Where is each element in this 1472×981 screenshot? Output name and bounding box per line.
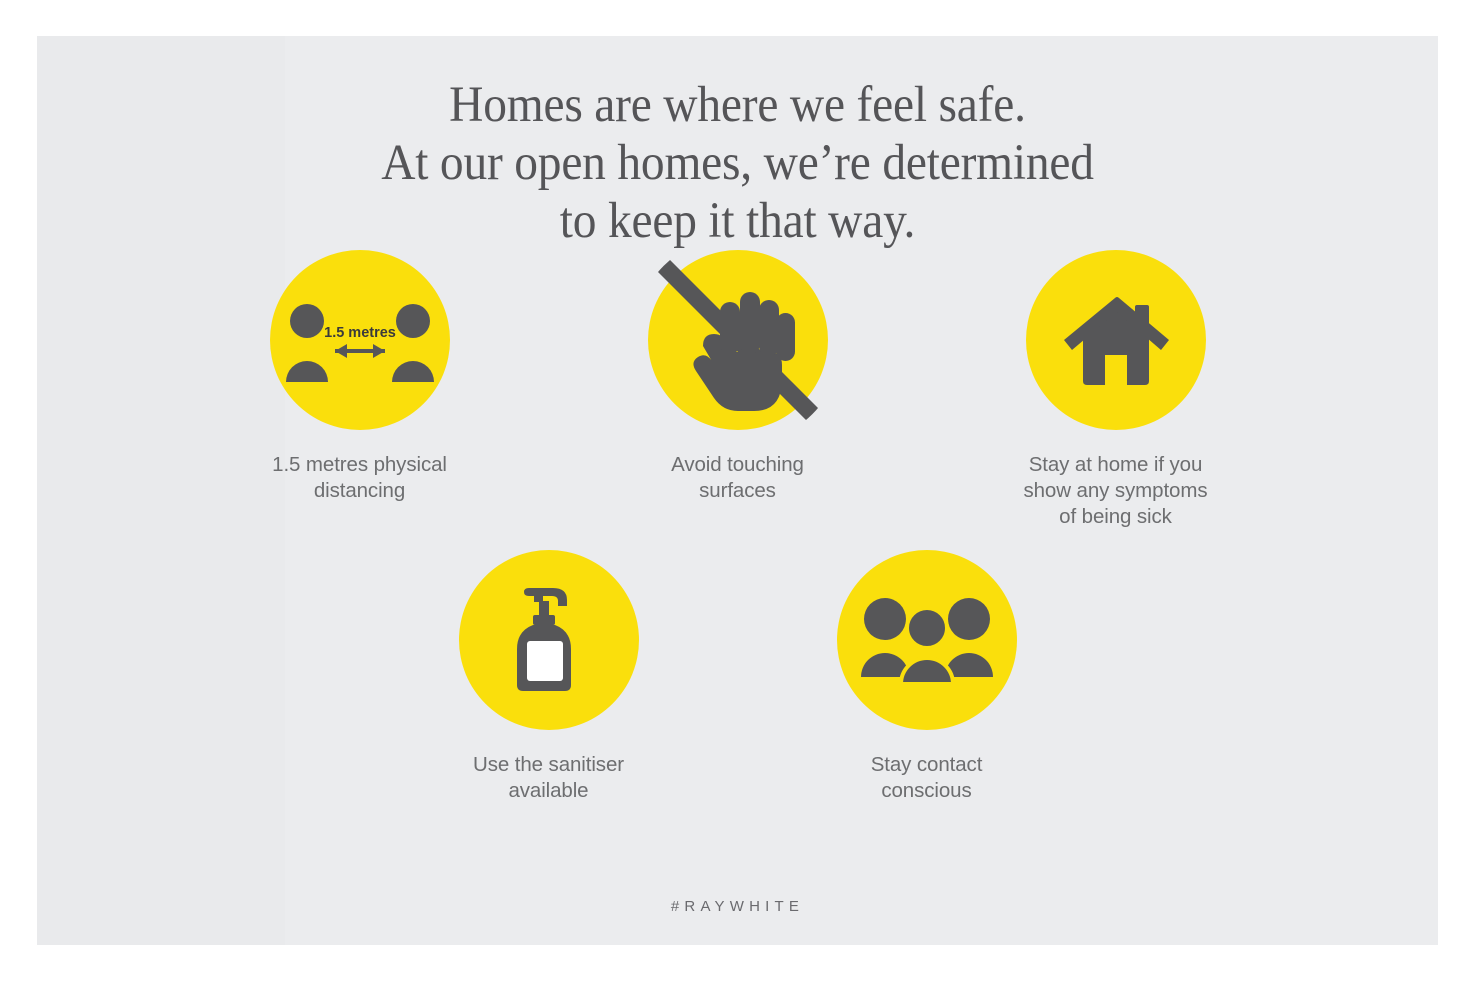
guideline-caption: Avoid touching surfaces [671,452,804,504]
physical-distancing-icon: 1.5 metres [270,250,450,430]
group-of-people-icon [837,550,1017,730]
guideline-tile-no-touching: Avoid touching surfaces [614,250,862,530]
house-icon [1026,250,1206,430]
poster-content: Homes are where we feel safe. At our ope… [37,36,1438,945]
guideline-tile-distancing: 1.5 metres 1.5 metres physical distancin… [236,250,484,530]
guideline-caption: Stay contact conscious [871,752,983,804]
guideline-row-bottom: Use the sanitiser available [37,550,1438,804]
guideline-caption: 1.5 metres physical distancing [272,452,447,504]
sanitiser-pump-bottle-icon [459,550,639,730]
poster-canvas: Homes are where we feel safe. At our ope… [37,36,1438,945]
guideline-tile-stay-home: Stay at home if you show any symptoms of… [992,250,1240,530]
distance-measure-label: 1.5 metres [324,325,396,341]
no-touching-hand-icon [648,250,828,430]
page-title: Homes are where we feel safe. At our ope… [86,76,1389,250]
guideline-caption: Stay at home if you show any symptoms of… [1023,452,1207,530]
guideline-caption: Use the sanitiser available [473,752,624,804]
guideline-tile-contact-conscious: Stay contact conscious [803,550,1051,804]
guideline-tile-sanitiser: Use the sanitiser available [425,550,673,804]
brand-hashtag: #RAYWHITE [37,898,1438,915]
guideline-row-top: 1.5 metres 1.5 metres physical distancin… [37,250,1438,530]
